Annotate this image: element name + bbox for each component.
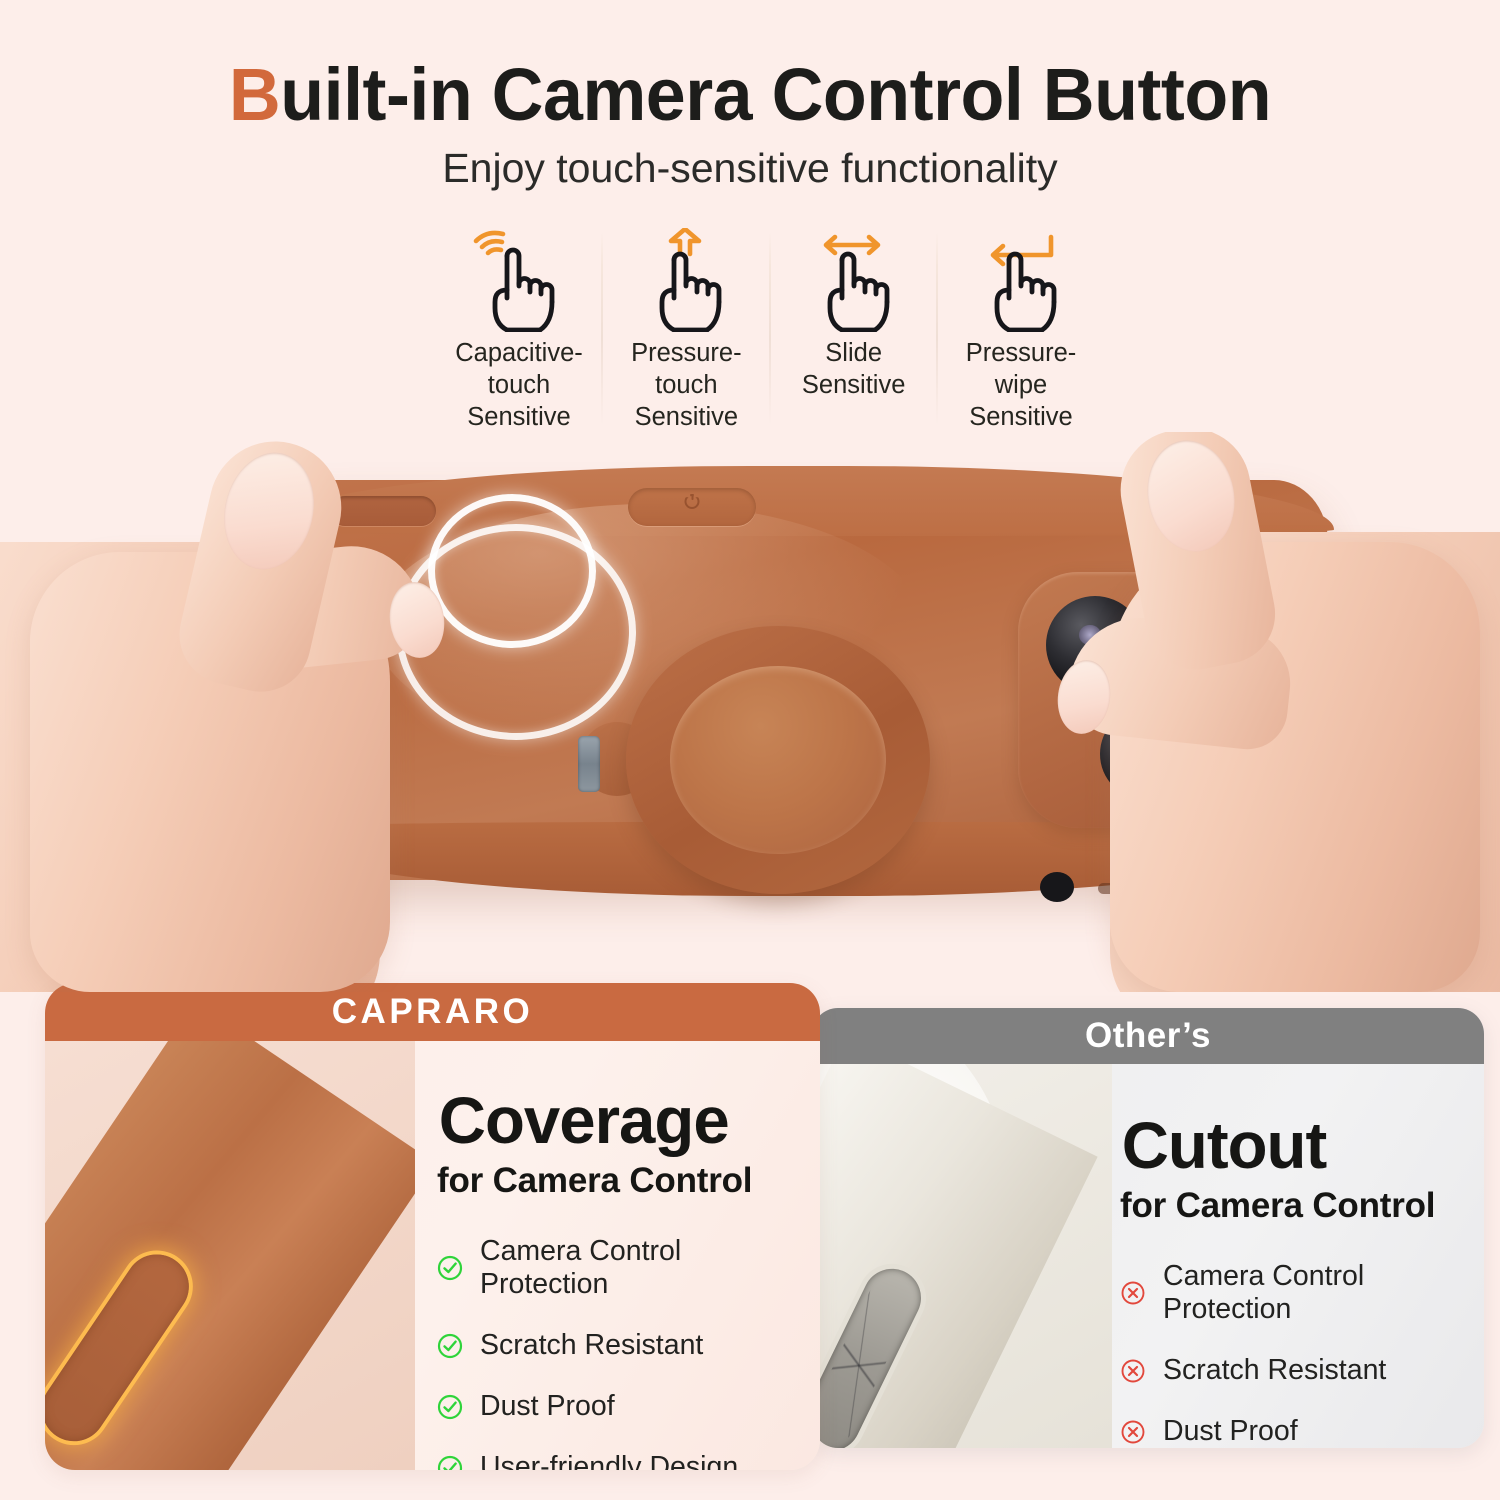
list-item: Dust Proof: [437, 1390, 798, 1423]
capraro-subhead: for Camera Control: [437, 1161, 798, 1201]
feature-label: Scratch Resistant: [480, 1329, 703, 1362]
page-title: Built-in Camera Control Button: [23, 52, 1478, 137]
check-circle-icon: [437, 1255, 463, 1281]
others-brand-header: Other’s: [812, 1008, 1484, 1064]
gesture-item-pressure-wipe: Pressure- wipe Sensitive: [942, 228, 1100, 434]
camera-control-cutout: [812, 1259, 931, 1448]
feature-label: Camera Control Protection: [480, 1235, 798, 1301]
list-item: Camera Control Protection: [437, 1235, 798, 1301]
pressure-touch-hand-icon: [638, 228, 734, 332]
gesture-label-capacitive-touch: Capacitive- touch Sensitive: [455, 338, 583, 434]
capraro-case-edge: [45, 1041, 415, 1470]
ring-inner: [670, 666, 886, 854]
feature-label: User-friendly Design: [480, 1451, 738, 1470]
gesture-item-pressure-touch: Pressure- touch Sensitive: [607, 228, 765, 434]
cross-circle-icon: [1120, 1419, 1146, 1445]
feature-label: Camera Control Protection: [1163, 1260, 1466, 1326]
power-icon: [685, 494, 700, 509]
capraro-text-block: Coverage for Camera Control Camera Contr…: [437, 1087, 798, 1470]
capraro-product-photo: [45, 1041, 415, 1470]
capacitive-touch-hand-icon: [471, 228, 567, 332]
hinge-pin: [578, 736, 600, 792]
check-circle-icon: [437, 1455, 463, 1471]
slide-sensitive-hand-icon: [806, 228, 902, 332]
pressure-wipe-hand-icon: [973, 228, 1069, 332]
magsafe-ring-stand[interactable]: [626, 626, 930, 894]
list-item: Scratch Resistant: [437, 1329, 798, 1362]
title-rest: uilt-in Camera Control Button: [280, 53, 1271, 136]
gesture-feature-row: Capacitive- touch Sensitive: [440, 228, 1100, 433]
others-headline: Cutout: [1122, 1112, 1465, 1178]
gesture-item-slide-sensitive: Slide Sensitive: [775, 228, 933, 402]
others-feature-list: Camera Control Protection Scratch Resist…: [1120, 1260, 1466, 1448]
list-item: Scratch Resistant: [1120, 1354, 1466, 1387]
product-infographic: Built-in Camera Control Button Enjoy tou…: [0, 0, 1500, 1500]
gesture-label-pressure-touch: Pressure- touch Sensitive: [631, 338, 742, 434]
microphone-hole: [1040, 872, 1074, 902]
gesture-label-pressure-wipe: Pressure- wipe Sensitive: [966, 338, 1077, 434]
list-item: User-friendly Design: [437, 1451, 798, 1470]
cross-circle-icon: [1120, 1358, 1146, 1384]
camera-control-button[interactable]: [330, 496, 436, 526]
power-button[interactable]: [628, 488, 756, 526]
gesture-label-slide-sensitive: Slide Sensitive: [802, 338, 905, 402]
check-circle-icon: [437, 1333, 463, 1359]
list-item: Dust Proof: [1120, 1415, 1466, 1448]
title-accent-letter: B: [229, 53, 280, 136]
list-item: Camera Control Protection: [1120, 1260, 1466, 1326]
check-circle-icon: [437, 1394, 463, 1420]
comparison-card-capraro: CAPRARO Coverage for Camera Control Came…: [45, 983, 820, 1470]
others-case-edge: [812, 1064, 1098, 1448]
gesture-item-capacitive-touch: Capacitive- touch Sensitive: [440, 228, 598, 434]
feature-label: Scratch Resistant: [1163, 1354, 1386, 1387]
page-subtitle: Enjoy touch-sensitive functionality: [0, 145, 1500, 192]
hero-product-photo: [0, 432, 1500, 992]
cross-circle-icon: [1120, 1280, 1146, 1306]
comparison-card-others: Other’s Cutout for Camera Control Camera…: [812, 1008, 1484, 1448]
others-product-photo: [812, 1064, 1112, 1448]
capraro-headline: Coverage: [439, 1087, 796, 1153]
capraro-feature-list: Camera Control Protection Scratch Resist…: [437, 1235, 798, 1470]
others-text-block: Cutout for Camera Control Camera Control…: [1120, 1112, 1466, 1448]
ring-outer: [626, 626, 930, 894]
feature-label: Dust Proof: [480, 1390, 615, 1423]
covered-camera-control-button: [45, 1242, 201, 1454]
others-subhead: for Camera Control: [1120, 1186, 1466, 1226]
feature-label: Dust Proof: [1163, 1415, 1298, 1448]
